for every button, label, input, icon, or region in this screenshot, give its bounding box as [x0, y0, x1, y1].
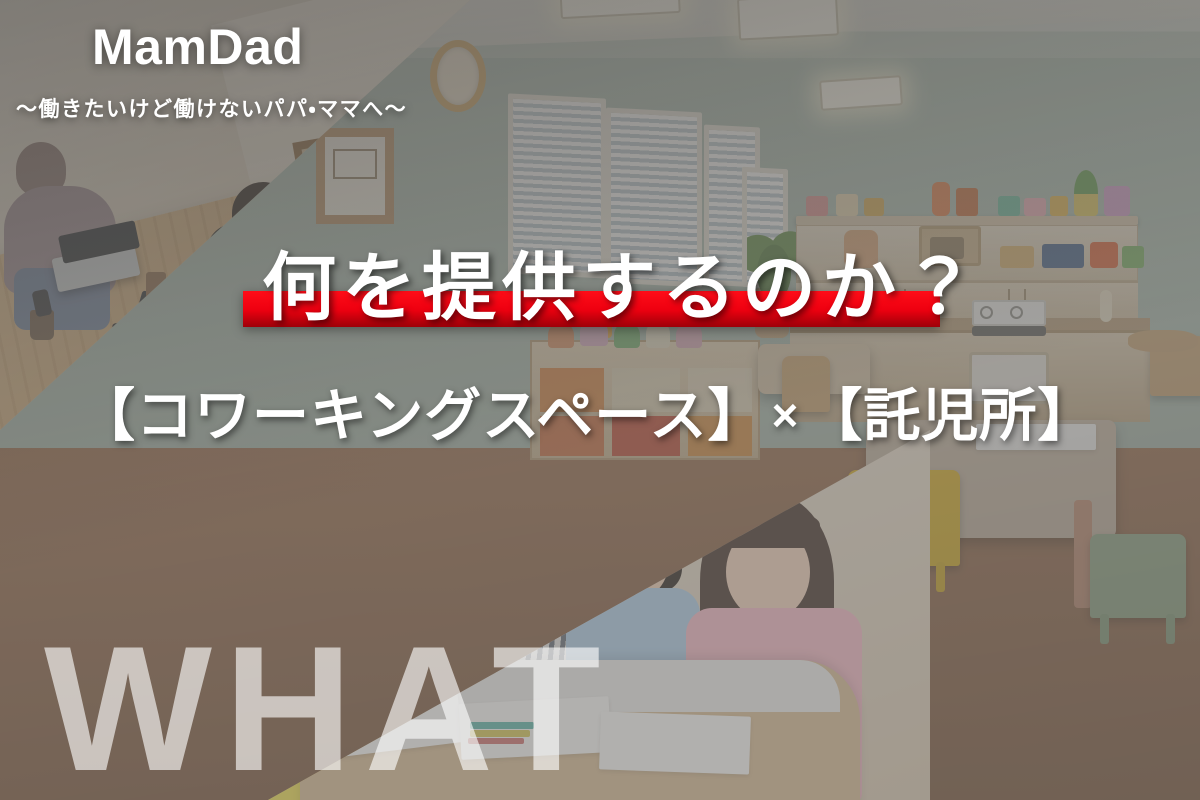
text-layer: MamDad 〜働きたいけど働けないパパ・ママへ〜 何を提供するのか？ 【コワー… [0, 0, 1200, 800]
slide-canvas: MamDad 〜働きたいけど働けないパパ・ママへ〜 何を提供するのか？ 【コワー… [0, 0, 1200, 800]
page-title: 何を提供するのか？ [262, 228, 982, 335]
subtitle-left: 【コワーキングスペース】 [78, 384, 765, 448]
subtitle-right: 【託児所】 [805, 384, 1095, 448]
watermark-what: WHAT [44, 620, 613, 798]
brand-logo: MamDad [92, 18, 303, 76]
subtitle: 【コワーキングスペース】×【託児所】 [78, 370, 1095, 452]
brand-tagline: 〜働きたいけど働けないパパ・ママへ〜 [16, 93, 407, 123]
multiply-icon: × [765, 389, 805, 441]
